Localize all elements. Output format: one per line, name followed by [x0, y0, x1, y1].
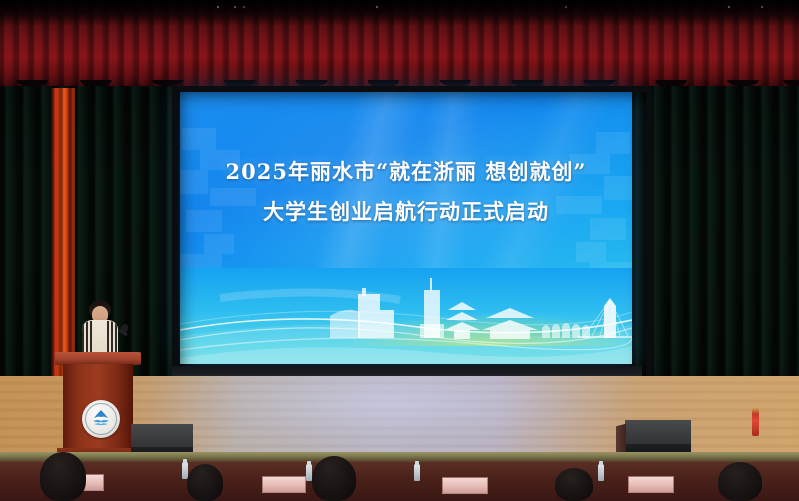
audience-head — [40, 452, 86, 501]
audience-head — [312, 456, 356, 501]
name-placard — [628, 476, 674, 493]
speaker-podium — [60, 352, 136, 460]
curtain-pleat-texture — [630, 86, 799, 426]
name-placard — [442, 477, 488, 494]
podium-body — [63, 364, 133, 450]
audience-front-table — [0, 452, 799, 501]
monitor-side-panel — [616, 424, 626, 456]
stage-monitor-speaker-right — [625, 420, 691, 454]
auditorium-stage-photo: 2025年丽水市“就在浙丽 想创就创” 大学生创业启航行动正式启动 — [0, 0, 799, 501]
emblem-mountain-mark — [90, 409, 112, 427]
microphone-icon — [116, 324, 130, 346]
stage-valance-curtain — [0, 0, 799, 92]
audience-head — [718, 462, 762, 501]
audience-head — [555, 468, 593, 501]
led-display-screen: 2025年丽水市“就在浙丽 想创就创” 大学生创业启航行动正式启动 — [180, 92, 632, 364]
water-bottle — [414, 464, 420, 481]
name-placard — [262, 476, 306, 493]
speaker-jacket-stripes-left — [82, 321, 93, 356]
wave-curves — [180, 268, 632, 364]
right-stage-curtain — [630, 86, 799, 426]
ceiling-light-reflections — [0, 3, 799, 11]
table-front-lip — [0, 452, 799, 462]
fire-extinguisher-icon — [752, 408, 759, 436]
title-line-secondary: 大学生创业启航行动正式启动 — [180, 196, 632, 229]
screen-title-block: 2025年丽水市“就在浙丽 想创就创” 大学生创业启航行动正式启动 — [180, 156, 632, 228]
audience-head — [187, 464, 223, 501]
speaker-person — [78, 300, 122, 356]
university-seal-emblem — [82, 400, 120, 438]
title-line-primary: 2025年丽水市“就在浙丽 想创就创” — [180, 156, 632, 189]
cityscape-graphic — [180, 268, 632, 364]
water-bottle — [598, 464, 604, 481]
